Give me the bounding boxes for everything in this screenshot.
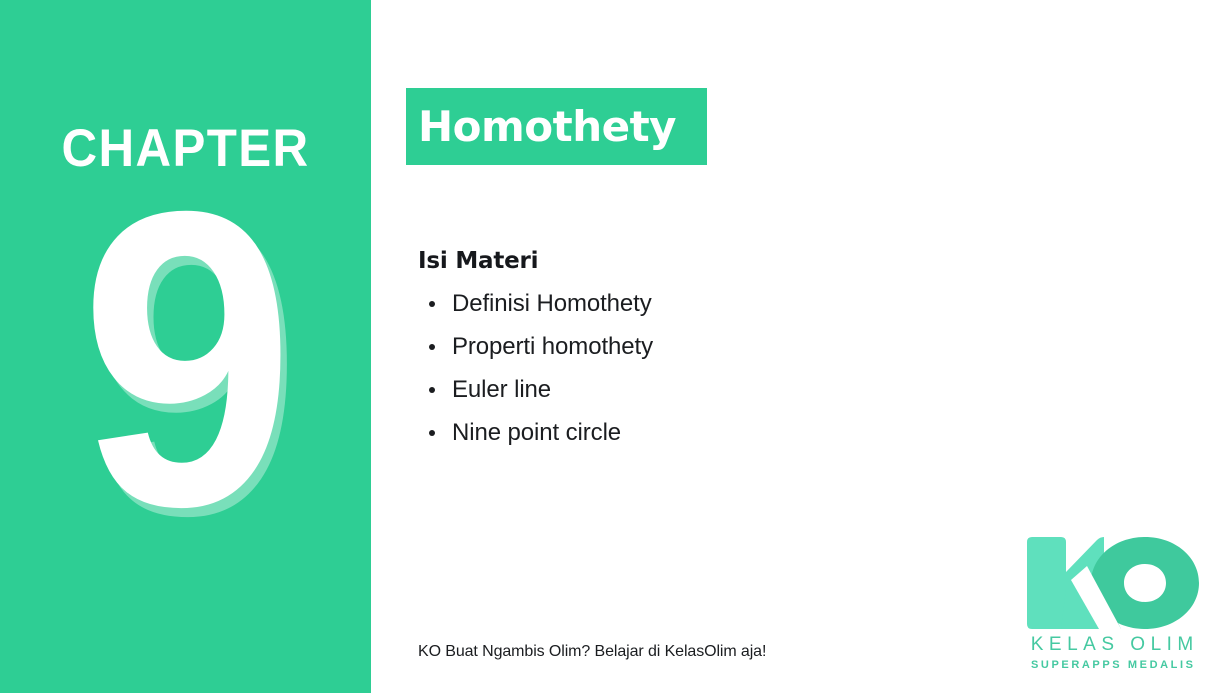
list-item-label: Euler line <box>452 376 551 403</box>
ko-monogram-icon <box>1025 536 1200 630</box>
bullet-icon <box>429 301 435 307</box>
logo-tagline: SUPERAPPS MEDALIS <box>1017 658 1207 672</box>
brand-logo: KELAS OLIM SUPERAPPS MEDALIS <box>1017 536 1207 678</box>
bullet-icon <box>429 387 435 393</box>
list-item: Euler line <box>418 368 978 411</box>
list-item: Definisi Homothety <box>418 282 978 325</box>
content-heading: Isi Materi <box>418 246 978 276</box>
chapter-label: CHAPTER <box>13 119 358 179</box>
presentation-slide: 9 CHAPTER Homothety Isi Materi Definisi … <box>0 0 1232 693</box>
list-item: Properti homothety <box>418 325 978 368</box>
bullet-icon <box>429 430 435 436</box>
bullet-icon <box>429 344 435 350</box>
chapter-number: 9 <box>15 150 356 570</box>
slide-title: Homothety <box>406 103 676 151</box>
content-block: Isi Materi Definisi Homothety Properti h… <box>418 246 978 454</box>
list-item-label: Nine point circle <box>452 419 621 446</box>
footer-note: KO Buat Ngambis Olim? Belajar di KelasOl… <box>418 641 766 663</box>
list-item: Nine point circle <box>418 411 978 454</box>
logo-name: KELAS OLIM <box>1017 634 1207 656</box>
list-item-label: Properti homothety <box>452 333 653 360</box>
chapter-panel: 9 CHAPTER <box>0 0 371 693</box>
list-item-label: Definisi Homothety <box>452 290 652 317</box>
slide-title-box: Homothety <box>406 88 707 165</box>
topic-list: Definisi Homothety Properti homothety Eu… <box>418 282 978 454</box>
